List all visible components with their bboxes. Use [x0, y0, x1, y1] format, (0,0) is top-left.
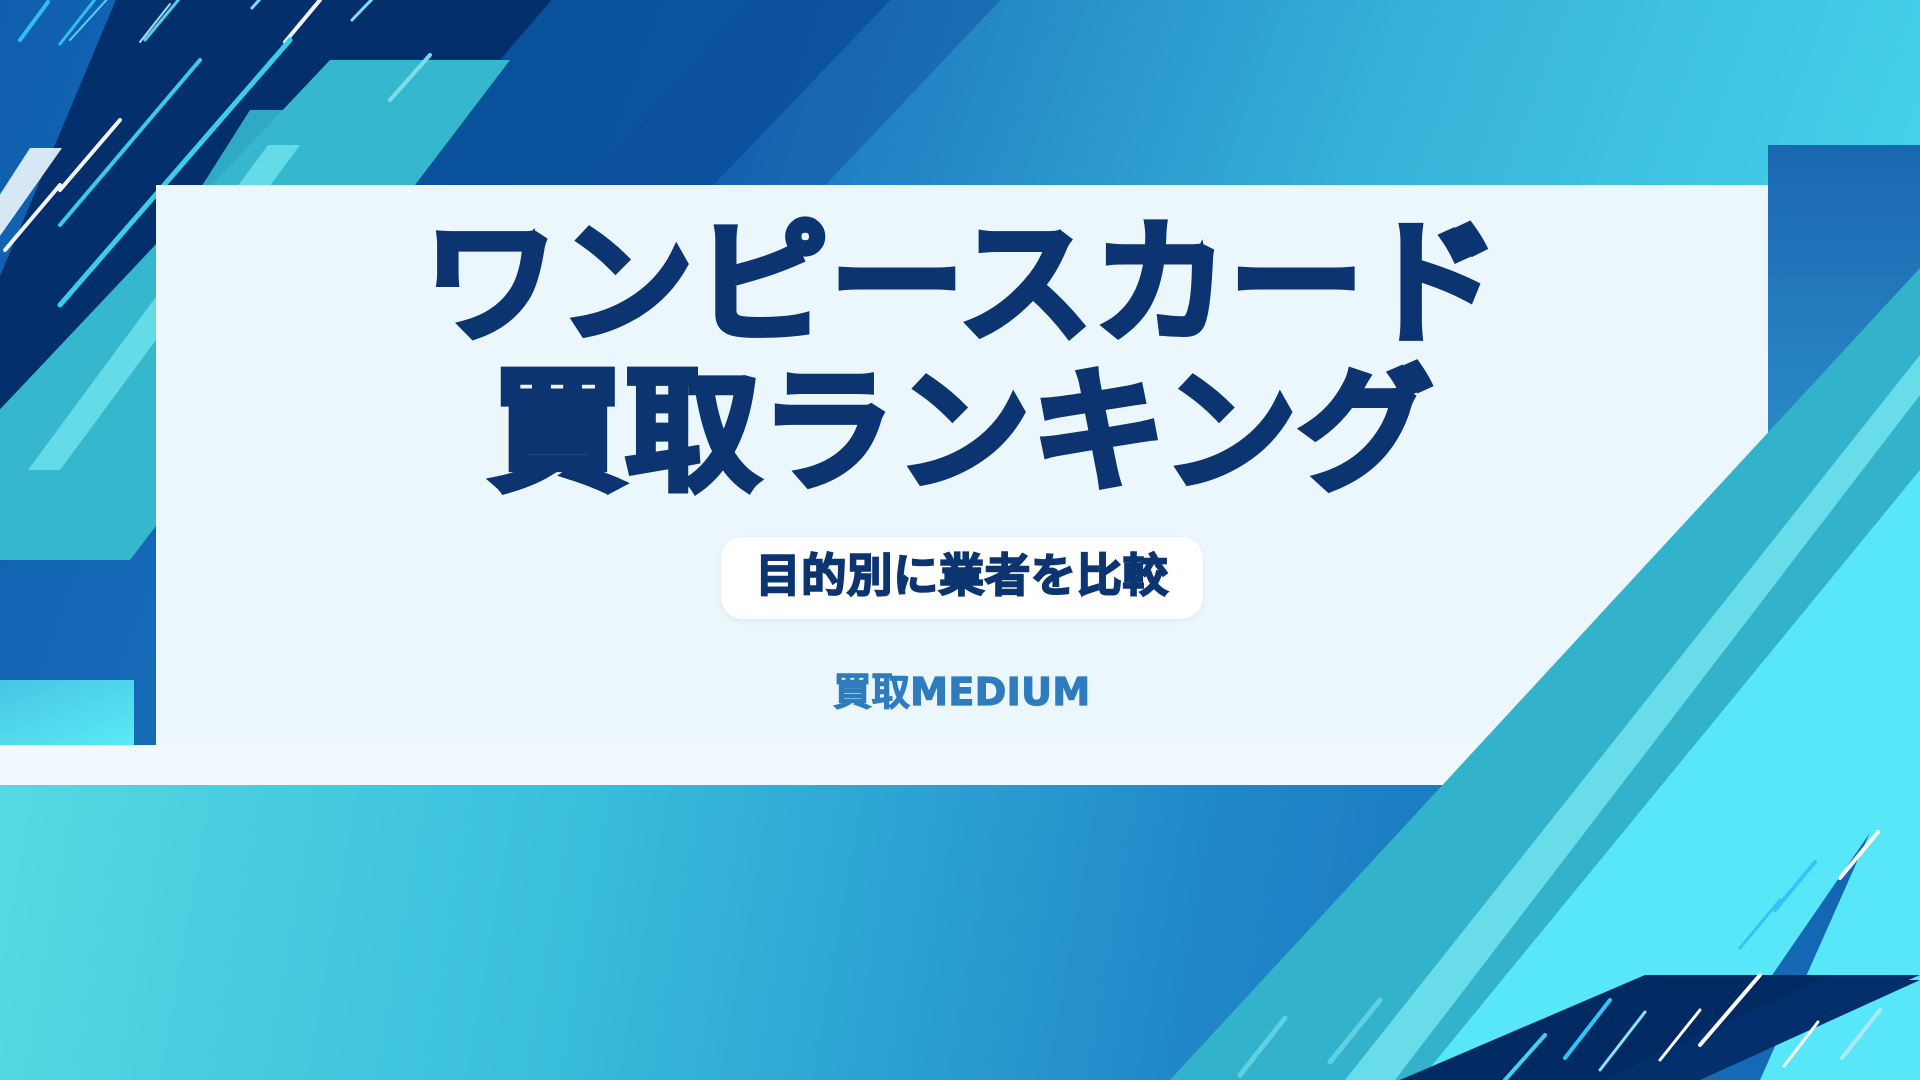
- bottom-strip: [0, 785, 1920, 1080]
- banner-canvas: ワンピースカード 買取ランキング 目的別に業者を比較 買取MEDIUM: [0, 0, 1920, 1080]
- page-title-line-1: ワンピースカード: [424, 213, 1500, 355]
- bottom-left-accent: [0, 680, 134, 745]
- subtitle-badge-label: 目的別に業者を比較: [755, 551, 1168, 601]
- page-title-line-2: 買取ランキング: [490, 361, 1433, 503]
- subtitle-badge: 目的別に業者を比較: [721, 537, 1202, 619]
- right-accent-block: [1768, 145, 1920, 590]
- brand-logo: 買取MEDIUM: [833, 661, 1090, 716]
- panel-underline: [0, 745, 1920, 785]
- banner-content: ワンピースカード 買取ランキング 目的別に業者を比較 買取MEDIUM: [156, 185, 1768, 745]
